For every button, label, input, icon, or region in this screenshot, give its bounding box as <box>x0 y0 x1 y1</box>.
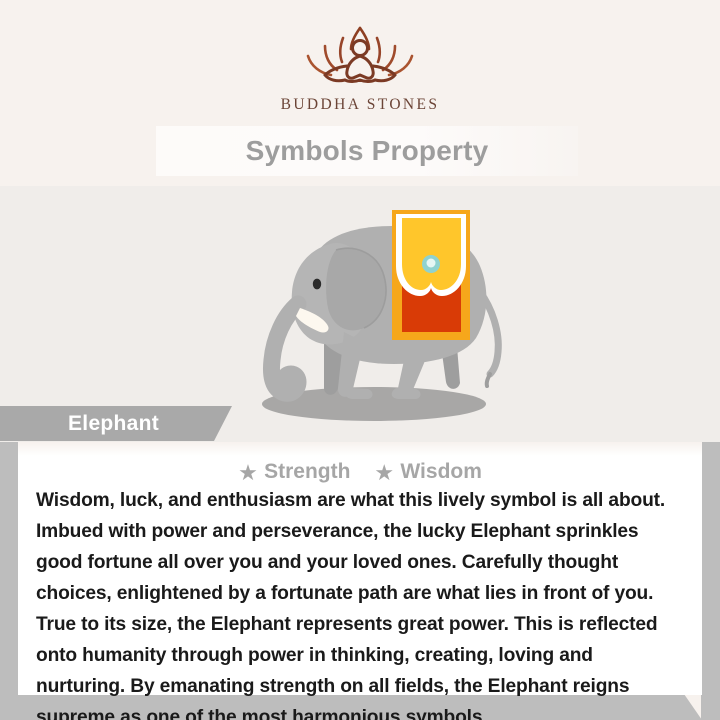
attribute-list: ★ Strength ★ Wisdom <box>18 460 702 484</box>
attribute-strength: ★ Strength <box>238 460 350 484</box>
title-banner: Symbols Property <box>156 126 578 176</box>
page-title: Symbols Property <box>156 126 578 176</box>
star-icon: ★ <box>238 463 257 482</box>
symbol-label-banner: Elephant <box>0 406 232 441</box>
star-icon: ★ <box>374 463 393 482</box>
symbol-name: Elephant <box>68 412 159 436</box>
panel-top-fade <box>18 442 702 456</box>
illustration-area <box>0 186 720 442</box>
decor-slab-left-lower <box>0 440 18 695</box>
brand-name: BUDDHA STONES <box>281 96 440 114</box>
symbol-description: Wisdom, luck, and enthusiasm are what th… <box>36 485 686 720</box>
header: BUDDHA STONES Symbols Property <box>0 0 720 186</box>
elephant-illustration <box>232 192 522 424</box>
brand-logo: BUDDHA STONES <box>0 18 720 114</box>
attribute-label: Wisdom <box>400 460 481 484</box>
infographic-card: BUDDHA STONES Symbols Property <box>0 0 720 720</box>
lotus-meditation-icon <box>281 18 439 90</box>
attribute-wisdom: ★ Wisdom <box>374 460 481 484</box>
description-panel: ★ Strength ★ Wisdom Wisdom, luck, and en… <box>18 442 702 695</box>
attribute-label: Strength <box>264 460 350 484</box>
